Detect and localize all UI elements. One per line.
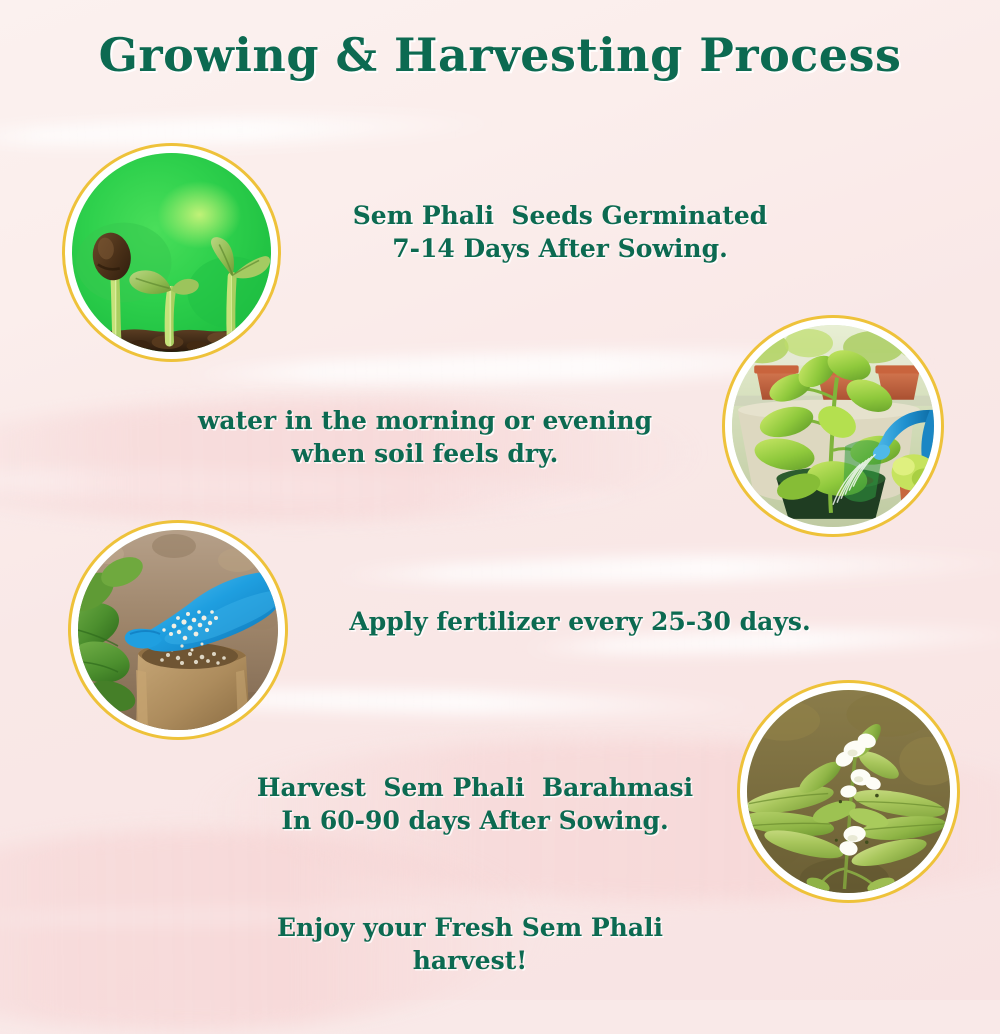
step-harvest-text: Harvest Sem Phali Barahmasi In 60-90 day… [215, 772, 735, 837]
step-harvest-line-1: Harvest Sem Phali Barahmasi [215, 772, 735, 805]
step-fertilizer-line-1: Apply fertilizer every 25-30 days. [300, 606, 860, 639]
step-enjoy-line-1: Enjoy your Fresh Sem Phali [210, 912, 730, 945]
step-watering-text: water in the morning or evening when soi… [165, 405, 685, 470]
step-fertilizer-text: Apply fertilizer every 25-30 days. [300, 606, 860, 639]
seedlings-germinating-photo [62, 143, 281, 362]
step-germination-text: Sem Phali Seeds Germinated 7-14 Days Aft… [300, 200, 820, 265]
step-enjoy-text: Enjoy your Fresh Sem Phali harvest! [210, 912, 730, 977]
step-watering-line-2: when soil feels dry. [165, 438, 685, 471]
fertilizer-application-photo [68, 520, 288, 740]
fertilizer-application-image [78, 530, 278, 730]
step-watering-line-1: water in the morning or evening [165, 405, 685, 438]
step-germination-line-2: 7-14 Days After Sowing. [300, 233, 820, 266]
seedlings-germinating-image [72, 153, 271, 352]
bean-pods-flowers-image [747, 690, 950, 893]
step-germination-line-1: Sem Phali Seeds Germinated [300, 200, 820, 233]
bean-pods-flowers-photo [737, 680, 960, 903]
watering-bean-plant-image [732, 325, 934, 527]
page-title: Growing & Harvesting Process [0, 28, 1000, 82]
step-harvest-line-2: In 60-90 days After Sowing. [215, 805, 735, 838]
step-enjoy-line-2: harvest! [210, 945, 730, 978]
watering-bean-plant-photo [722, 315, 944, 537]
